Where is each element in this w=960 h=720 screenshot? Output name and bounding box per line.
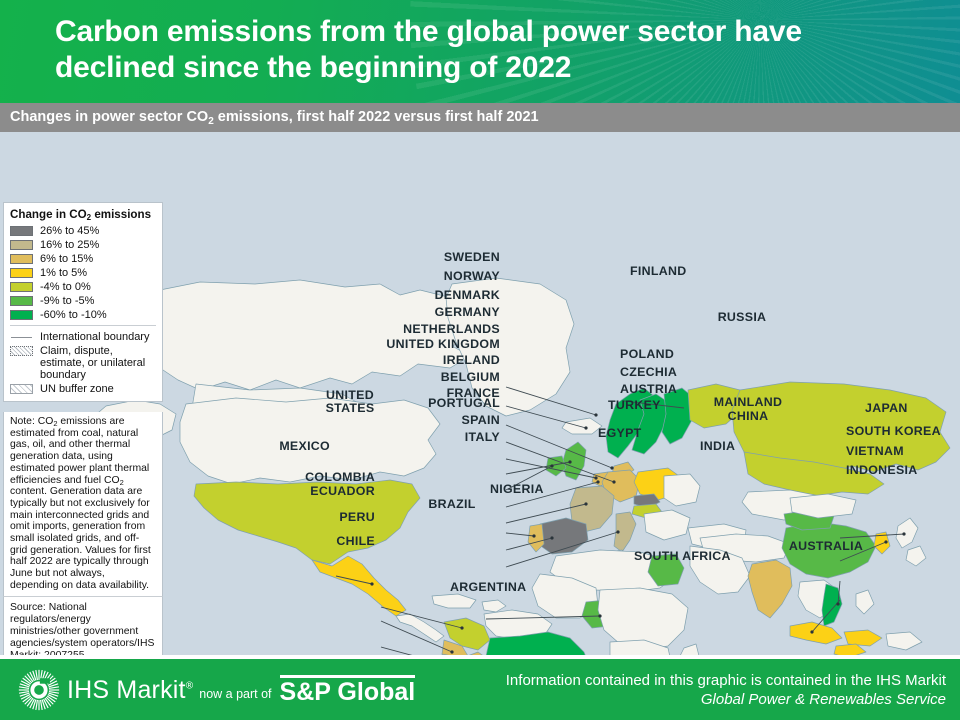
legend-class-row: 6% to 15%	[10, 253, 156, 265]
footer-line-2: Global Power & Renewables Service	[506, 690, 946, 709]
map-label-austria: AUSTRIA	[620, 383, 677, 396]
legend-title-suffix: emissions	[91, 208, 151, 221]
ihs-brand-text: IHS Markit	[67, 676, 186, 704]
map-label-brazil: BRAZIL	[362, 498, 542, 511]
map-legend: Change in CO2 emissions 26% to 45%16% to…	[3, 202, 163, 402]
map-label-south-korea: SOUTH KOREA	[846, 425, 941, 438]
legend-boundary-list: International boundaryClaim, dispute, es…	[10, 331, 156, 395]
note-sub1: 2	[53, 419, 57, 428]
map-label-russia: RUSSIA	[652, 311, 832, 324]
map-label-vietnam: VIETNAM	[846, 445, 904, 458]
legend-class-row: 1% to 5%	[10, 267, 156, 279]
legend-class-row: -9% to -5%	[10, 295, 156, 307]
legend-swatch	[10, 240, 33, 250]
subtitle-text: Changes in power sector CO2 emissions, f…	[10, 109, 539, 125]
map-label-argentina: ARGENTINA	[450, 581, 526, 594]
map-label-japan: JAPAN	[865, 402, 908, 415]
map-label-egypt: EGYPT	[598, 427, 642, 440]
registered-mark: ®	[186, 680, 194, 691]
note-sub2: 2	[120, 478, 124, 487]
legend-swatch	[10, 296, 33, 306]
legend-boundary-swatch	[10, 332, 33, 342]
footer-service-note: Information contained in this graphic is…	[506, 671, 946, 709]
map-label-mainland-china: MAINLAND	[658, 396, 838, 409]
header-banner: Carbon emissions from the global power s…	[0, 0, 960, 103]
legend-class-label: 1% to 5%	[40, 267, 87, 279]
map-label-finland: FINLAND	[630, 265, 686, 278]
map-label-nigeria: NIGERIA	[490, 483, 544, 496]
map-label-australia: AUSTRALIA	[736, 540, 916, 553]
legend-boundary-row: UN buffer zone	[10, 383, 156, 395]
note-part1: Note: CO	[10, 416, 53, 427]
map-label-south-africa: SOUTH AFRICA	[634, 550, 731, 563]
sp-global-wordmark: S&P Global	[280, 675, 416, 706]
subtitle-subscript: 2	[208, 116, 214, 127]
legend-boundary-row: Claim, dispute, estimate, or unilateral …	[10, 345, 156, 381]
legend-title-prefix: Change in CO	[10, 208, 87, 221]
note-text: Note: CO2 emissions are estimated from c…	[10, 416, 156, 592]
legend-title: Change in CO2 emissions	[10, 208, 156, 221]
legend-class-label: 6% to 15%	[40, 253, 93, 265]
legend-swatch	[10, 268, 33, 278]
map-label-indonesia: INDONESIA	[846, 464, 918, 477]
subtitle-bar: Changes in power sector CO2 emissions, f…	[0, 103, 960, 132]
source-text: Source: National regulators/energy minis…	[10, 602, 156, 662]
map-label-india: INDIA	[700, 440, 735, 453]
legend-boundary-label: UN buffer zone	[40, 383, 114, 395]
infographic-page: Carbon emissions from the global power s…	[0, 0, 960, 720]
subtitle-prefix: Changes in power sector CO	[10, 109, 208, 125]
legend-class-label: 26% to 45%	[40, 225, 99, 237]
note-part3: content. Generation data are typically b…	[10, 486, 151, 591]
map-label-poland: POLAND	[620, 348, 674, 361]
legend-boundary-row: International boundary	[10, 331, 156, 343]
legend-boundary-label: International boundary	[40, 331, 149, 343]
legend-swatch	[10, 310, 33, 320]
legend-swatch	[10, 226, 33, 236]
legend-divider	[10, 325, 156, 326]
legend-class-row: -60% to -10%	[10, 309, 156, 321]
map-label-mainland-china2: CHINA	[658, 410, 838, 423]
subtitle-suffix: emissions, first half 2022 versus first …	[214, 109, 539, 125]
footer-banner: IHS Markit® now a part of S&P Global Inf…	[0, 659, 960, 720]
legend-class-row: 16% to 25%	[10, 239, 156, 251]
now-a-part-of-text: now a part of	[199, 687, 271, 701]
map-label-czechia: CZECHIA	[620, 366, 677, 379]
legend-boundary-swatch	[10, 384, 33, 394]
legend-class-row: 26% to 45%	[10, 225, 156, 237]
legend-boundary-label: Claim, dispute, estimate, or unilateral …	[40, 345, 156, 381]
map-label-united-states2: STATES	[260, 402, 440, 415]
legend-boundary-swatch	[10, 346, 33, 356]
legend-class-label: -4% to 0%	[40, 281, 91, 293]
note-box: Note: CO2 emissions are estimated from c…	[3, 412, 163, 597]
legend-class-label: -60% to -10%	[40, 309, 107, 321]
legend-class-label: 16% to 25%	[40, 239, 99, 251]
page-title: Carbon emissions from the global power s…	[55, 14, 895, 86]
legend-swatch	[10, 254, 33, 264]
ihs-markit-wordmark: IHS Markit®	[67, 676, 193, 705]
legend-class-row: -4% to 0%	[10, 281, 156, 293]
footer-line-1: Information contained in this graphic is…	[506, 671, 946, 690]
legend-class-label: -9% to -5%	[40, 295, 94, 307]
legend-swatch	[10, 282, 33, 292]
brand-logo: IHS Markit® now a part of S&P Global	[18, 669, 415, 711]
sunburst-icon	[18, 669, 60, 711]
legend-title-subscript: 2	[87, 213, 91, 222]
map-label-turkey: TURKEY	[608, 399, 661, 412]
legend-class-list: 26% to 45%16% to 25%6% to 15%1% to 5%-4%…	[10, 225, 156, 321]
